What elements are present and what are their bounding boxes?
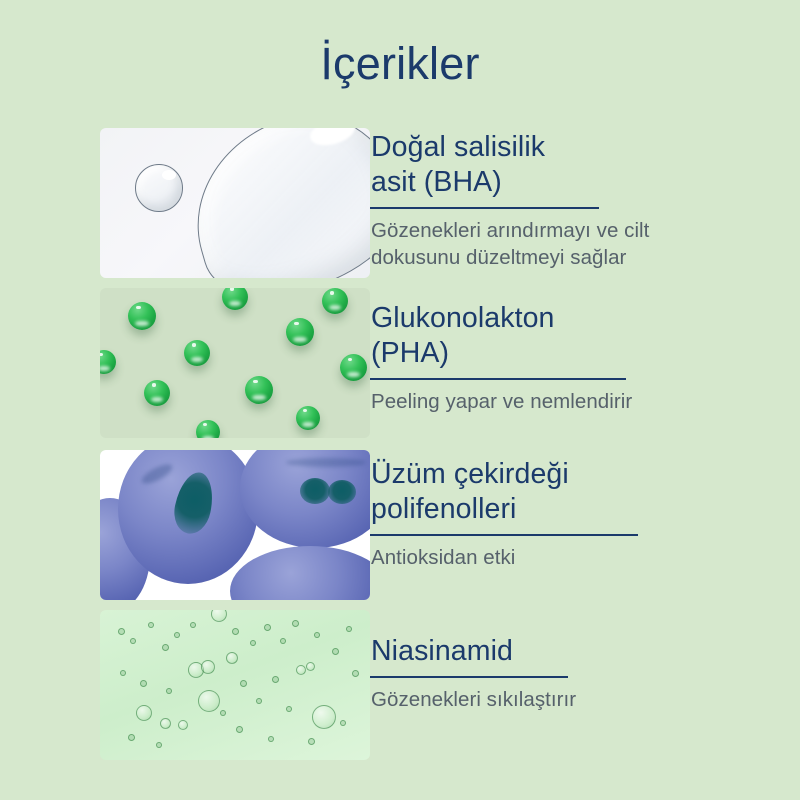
ingredient-image-salicylic-acid xyxy=(100,128,370,278)
ingredient-title: Niasinamid xyxy=(371,634,771,669)
bubble xyxy=(226,652,238,664)
ingredient-text-block: Niasinamid Gözenekleri sıkılaştırır xyxy=(371,634,771,713)
ingredient-text-block: Üzüm çekirdeği polifenolleri Antioksidan… xyxy=(371,457,771,571)
bubble xyxy=(198,690,220,712)
bubble xyxy=(130,638,136,644)
bubble xyxy=(314,632,320,638)
bead xyxy=(184,340,210,366)
bead xyxy=(322,288,348,314)
ingredient-image-niacinamide xyxy=(100,610,370,760)
bead xyxy=(196,420,220,438)
bubble xyxy=(256,698,262,704)
bubble xyxy=(166,688,172,694)
bubble xyxy=(308,738,315,745)
bubble xyxy=(332,648,339,655)
clear-gel-droplet-illustration xyxy=(100,128,370,278)
gel-droplet-small-shape xyxy=(135,164,183,212)
bubble xyxy=(268,736,274,742)
grape-stem-mark xyxy=(328,480,356,504)
bubble xyxy=(346,626,352,632)
bubble xyxy=(156,742,162,748)
grape-stem-mark xyxy=(300,478,330,504)
bubble xyxy=(250,640,256,646)
page-title: İçerikler xyxy=(0,38,800,90)
grape-shadow-streak xyxy=(286,458,366,467)
bubble xyxy=(236,726,243,733)
ingredient-title: Üzüm çekirdeği polifenolleri xyxy=(371,457,771,527)
purple-grapes-illustration xyxy=(100,450,370,600)
ingredient-description: Gözenekleri sıkılaştırır xyxy=(371,686,771,713)
bubble xyxy=(118,628,125,635)
ingredient-description: Antioksidan etki xyxy=(371,544,771,571)
ingredient-divider xyxy=(370,534,638,536)
ingredient-title: Doğal salisilik asit (BHA) xyxy=(371,130,771,200)
bubble xyxy=(120,670,126,676)
bubble xyxy=(174,632,180,638)
bubble xyxy=(286,706,292,712)
bubble xyxy=(340,720,346,726)
bead xyxy=(286,318,314,346)
gel-droplet-large-shape xyxy=(172,128,370,278)
bead xyxy=(222,288,248,310)
bead xyxy=(340,354,367,381)
bubble xyxy=(162,644,169,651)
bead xyxy=(100,350,116,374)
mint-gel-bubbles-illustration xyxy=(100,610,370,760)
bead xyxy=(144,380,170,406)
bubble xyxy=(352,670,359,677)
ingredient-text-block: Doğal salisilik asit (BHA) Gözenekleri a… xyxy=(371,130,771,271)
bubble xyxy=(296,665,306,675)
bubble xyxy=(201,660,215,674)
bubble xyxy=(190,622,196,628)
bubble xyxy=(178,720,188,730)
bubble xyxy=(140,680,147,687)
bubble xyxy=(148,622,154,628)
bubble xyxy=(160,718,171,729)
ingredient-description: Gözenekleri arındırmayı ve cilt dokusunu… xyxy=(371,217,771,272)
bubble xyxy=(292,620,299,627)
grape xyxy=(230,546,370,600)
bubble xyxy=(136,705,152,721)
bubble xyxy=(240,680,247,687)
bubble xyxy=(280,638,286,644)
ingredient-title: Glukonolakton (PHA) xyxy=(371,301,771,371)
bubble xyxy=(272,676,279,683)
ingredient-divider xyxy=(370,207,599,209)
green-beads-illustration xyxy=(100,288,370,438)
bubble xyxy=(128,734,135,741)
bubble xyxy=(232,628,239,635)
bead xyxy=(245,376,273,404)
bubble xyxy=(264,624,271,631)
ingredient-image-gluconolactone xyxy=(100,288,370,438)
bead xyxy=(128,302,156,330)
bead xyxy=(296,406,320,430)
ingredient-text-block: Glukonolakton (PHA) Peeling yapar ve nem… xyxy=(371,301,771,415)
bubble xyxy=(211,610,227,622)
ingredient-divider xyxy=(370,676,568,678)
ingredient-description: Peeling yapar ve nemlendirir xyxy=(371,388,771,415)
ingredient-image-grape-seed xyxy=(100,450,370,600)
bubble xyxy=(306,662,315,671)
ingredient-divider xyxy=(370,378,626,380)
bubble xyxy=(312,705,336,729)
bubble xyxy=(220,710,226,716)
